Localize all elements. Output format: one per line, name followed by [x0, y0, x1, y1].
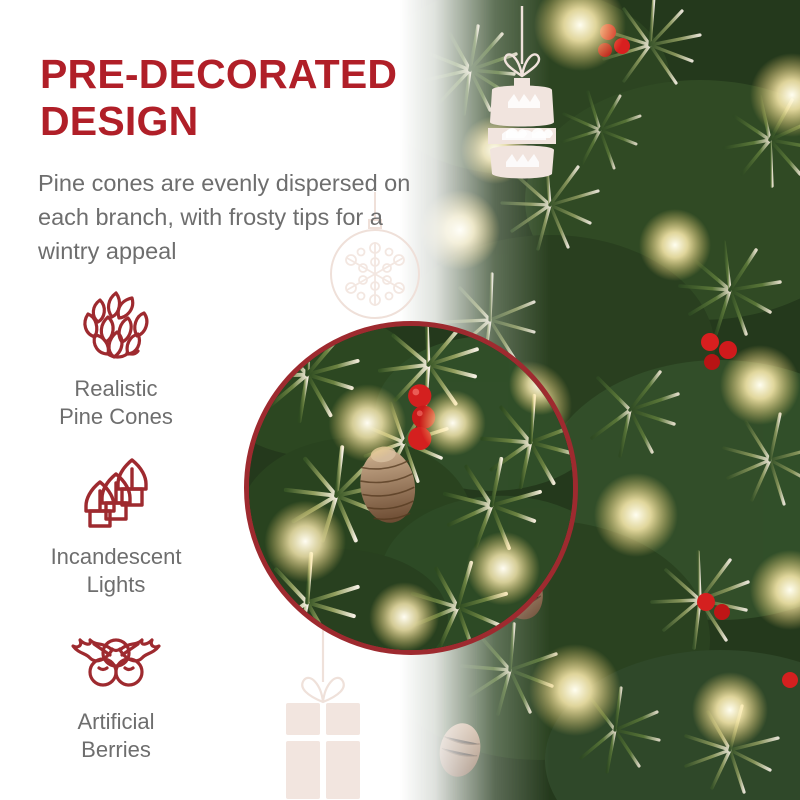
light-bulbs-icon: [70, 455, 162, 529]
magnified-detail-inset: [244, 321, 578, 655]
holly-berries-icon: [70, 620, 162, 694]
feature-item-pine-cones: Realistic Pine Cones: [16, 287, 216, 431]
feature-label: Incandescent Lights: [16, 543, 216, 599]
gift-box-watermark: [268, 630, 378, 800]
feature-item-lights: Incandescent Lights: [16, 455, 216, 599]
inset-photo: [249, 326, 573, 650]
page-title: PRE-DECORATED DESIGN: [40, 51, 440, 145]
feature-label: Realistic Pine Cones: [16, 375, 216, 431]
product-feature-graphic: PRE-DECORATED DESIGN Pine cones are even…: [0, 0, 800, 800]
page-subtitle: Pine cones are evenly dispersed on each …: [38, 166, 436, 268]
pine-cone-icon: [70, 287, 162, 361]
feature-label: Artificial Berries: [16, 708, 216, 764]
feature-item-berries: Artificial Berries: [16, 620, 216, 764]
bell-ornament-watermark: [462, 6, 582, 181]
